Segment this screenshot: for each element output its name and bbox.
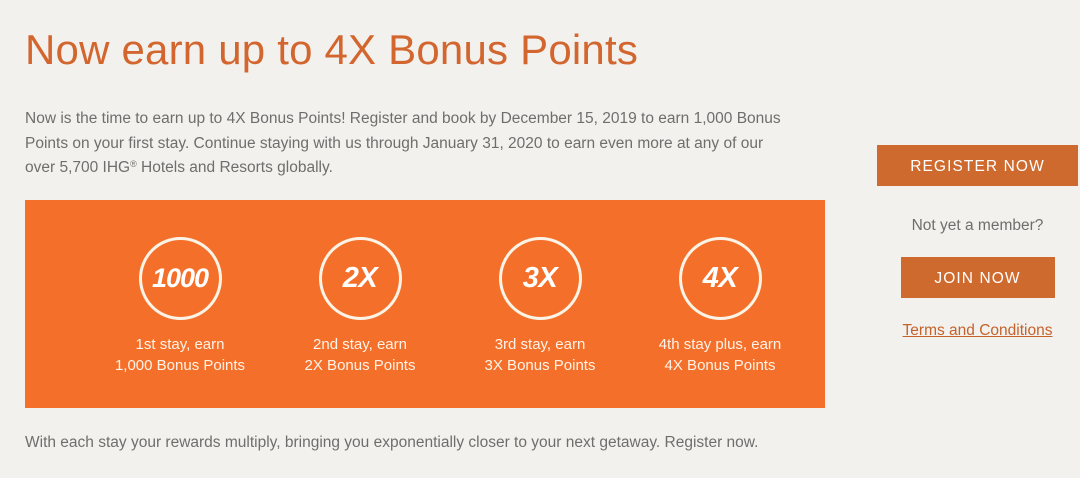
tier-caption-line1-2: 2nd stay, earn	[270, 334, 450, 355]
intro-paragraph: Now is the time to earn up to 4X Bonus P…	[25, 107, 797, 181]
tier-value-1: 1000	[152, 265, 208, 292]
tier-circle-icon-2: 2X	[319, 237, 402, 320]
tier-caption-line1-4: 4th stay plus, earn	[630, 334, 810, 355]
bonus-tiers-banner: 1000 1st stay, earn 1,000 Bonus Points 2…	[25, 200, 825, 408]
tier-card-4: 4X 4th stay plus, earn 4X Bonus Points	[630, 200, 810, 376]
tier-caption-line1-1: 1st stay, earn	[90, 334, 270, 355]
promo-page: Now earn up to 4X Bonus Points Now is th…	[0, 0, 1080, 478]
tier-card-2: 2X 2nd stay, earn 2X Bonus Points	[270, 200, 450, 376]
tier-circle-icon-1: 1000	[139, 237, 222, 320]
page-title: Now earn up to 4X Bonus Points	[25, 24, 638, 76]
tier-caption-line2-3: 3X Bonus Points	[450, 355, 630, 376]
intro-text-part2: Hotels and Resorts globally.	[137, 159, 333, 176]
tier-card-1: 1000 1st stay, earn 1,000 Bonus Points	[90, 200, 270, 376]
tier-circle-icon-3: 3X	[499, 237, 582, 320]
tier-caption-line2-2: 2X Bonus Points	[270, 355, 450, 376]
tier-caption-4: 4th stay plus, earn 4X Bonus Points	[630, 334, 810, 376]
closing-paragraph: With each stay your rewards multiply, br…	[25, 431, 797, 456]
tier-value-3: 3X	[523, 264, 557, 293]
tier-value-4: 4X	[703, 264, 737, 293]
join-now-button[interactable]: JOIN NOW	[901, 257, 1055, 298]
tier-caption-2: 2nd stay, earn 2X Bonus Points	[270, 334, 450, 376]
tier-caption-line1-3: 3rd stay, earn	[450, 334, 630, 355]
tier-circle-icon-4: 4X	[679, 237, 762, 320]
terms-and-conditions-link[interactable]: Terms and Conditions	[903, 321, 1053, 341]
register-now-button[interactable]: REGISTER NOW	[877, 145, 1078, 186]
tier-card-3: 3X 3rd stay, earn 3X Bonus Points	[450, 200, 630, 376]
tier-caption-3: 3rd stay, earn 3X Bonus Points	[450, 334, 630, 376]
tier-value-2: 2X	[343, 264, 377, 293]
member-prompt-text: Not yet a member?	[877, 216, 1078, 236]
registered-mark-icon: ®	[130, 159, 137, 169]
tier-caption-1: 1st stay, earn 1,000 Bonus Points	[90, 334, 270, 376]
cta-sidebar: REGISTER NOW Not yet a member? JOIN NOW …	[877, 145, 1078, 341]
tier-caption-line2-4: 4X Bonus Points	[630, 355, 810, 376]
tier-caption-line2-1: 1,000 Bonus Points	[90, 355, 270, 376]
